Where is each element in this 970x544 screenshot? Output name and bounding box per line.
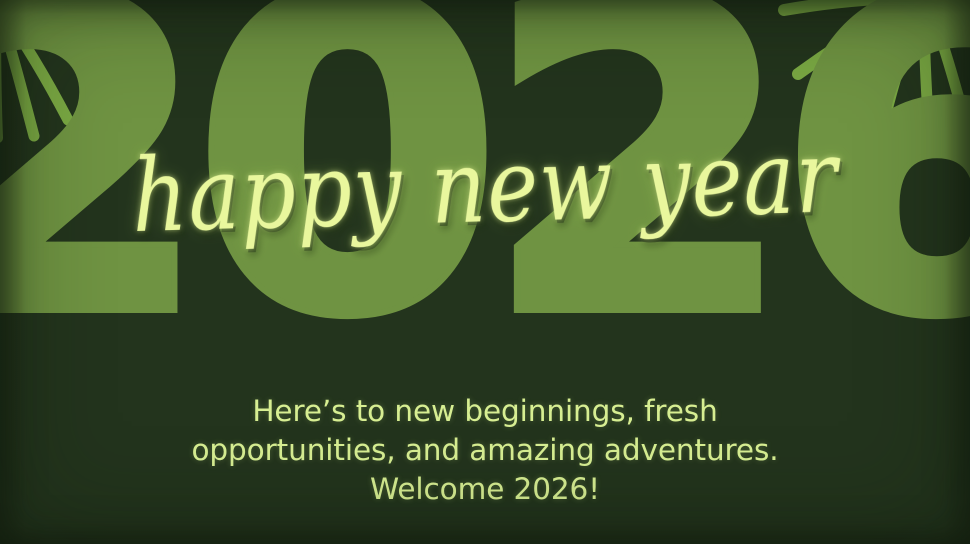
- new-year-greeting-card: 2026 happy new year Here’s to new beginn…: [0, 0, 970, 544]
- greeting-message: Here’s to new beginnings, fresh opportun…: [165, 392, 805, 509]
- script-greeting-happy-new-year: happy new year: [131, 126, 839, 247]
- message-line-2: opportunities, and amazing adventures.: [165, 431, 805, 470]
- message-line-1: Here’s to new beginnings, fresh: [165, 392, 805, 431]
- script-greeting-container: happy new year: [0, 112, 970, 262]
- message-line-3: Welcome 2026!: [165, 470, 805, 509]
